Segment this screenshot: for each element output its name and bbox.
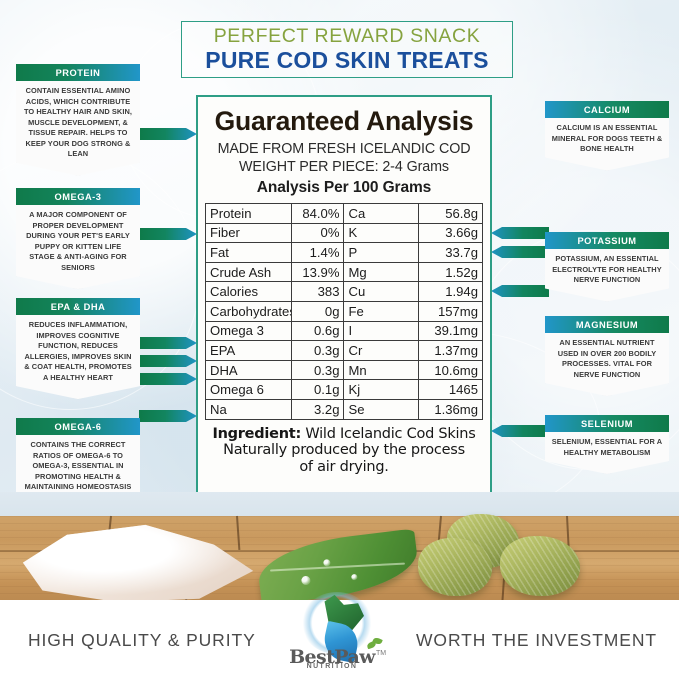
table-row: Crude Ash13.9%Mg1.52g	[206, 262, 483, 282]
table-row: DHA0.3gMn10.6mg	[206, 360, 483, 380]
nutrient-name: Protein	[206, 204, 292, 224]
table-row: EPA0.3gCr1.37mg	[206, 341, 483, 361]
connector-arrow-protein	[139, 128, 197, 140]
header-title-box: PERFECT REWARD SNACK PURE COD SKIN TREAT…	[181, 21, 513, 78]
logo-subtitle: NUTRITION	[279, 663, 385, 670]
mineral-value: 10.6mg	[419, 360, 483, 380]
table-row: Fat1.4%P33.7g	[206, 243, 483, 263]
callout-omega-3[interactable]: OMEGA-3 A MAJOR COMPONENT OF PROPER DEVE…	[16, 188, 140, 289]
panel-subtitle-weight: WEIGHT PER PIECE: 2-4 Grams	[205, 158, 483, 176]
callout-body: AN ESSENTIAL NUTRIENT USED IN OVER 200 B…	[545, 333, 669, 396]
callout-potassium[interactable]: POTASSIUM POTASSIUM, AN ESSENTIAL ELECTR…	[545, 232, 669, 302]
table-row: Calories383Cu1.94g	[206, 282, 483, 302]
nutrient-name: DHA	[206, 360, 292, 380]
footer-tagline-left: HIGH QUALITY & PURITY	[28, 630, 256, 651]
mineral-name: Mn	[344, 360, 419, 380]
table-row: Na3.2gSe1.36mg	[206, 399, 483, 419]
callout-title: OMEGA-6	[16, 418, 140, 435]
guaranteed-analysis-panel: Guaranteed Analysis MADE FROM FRESH ICEL…	[196, 95, 492, 495]
nutrient-name: Omega 3	[206, 321, 292, 341]
panel-subtitle-basis: Analysis Per 100 Grams	[205, 178, 483, 197]
connector-arrow-epa-dha	[139, 337, 197, 349]
table-row: Carbohydrates0gFe157mg	[206, 302, 483, 322]
nutrient-value: 383	[291, 282, 344, 302]
table-row: Omega 30.6gI39.1mg	[206, 321, 483, 341]
callout-body: A MAJOR COMPONENT OF PROPER DEVELOPMENT …	[16, 205, 140, 289]
callout-body: REDUCES INFLAMMATION, IMPROVES COGNITIVE…	[16, 315, 140, 399]
infographic-canvas: PERFECT REWARD SNACK PURE COD SKIN TREAT…	[0, 0, 679, 674]
mineral-value: 56.8g	[419, 204, 483, 224]
callout-calcium[interactable]: CALCIUM CALCIUM IS AN ESSENTIAL MINERAL …	[545, 101, 669, 171]
header-tagline: PERFECT REWARD SNACK	[214, 27, 481, 50]
connector-arrow-calcium	[491, 227, 549, 239]
callout-body: SELENIUM, ESSENTIAL FOR A HEALTHY METABO…	[545, 432, 669, 474]
callout-body: CONTAIN ESSENTIAL AMINO ACIDS, WHICH CON…	[16, 81, 140, 176]
connector-arrow-omega3	[139, 228, 197, 240]
nutrient-name: Omega 6	[206, 380, 292, 400]
callout-title: EPA & DHA	[16, 298, 140, 315]
product-photo-band	[0, 492, 679, 602]
nutrient-value: 13.9%	[291, 262, 344, 282]
callout-body: POTASSIUM, AN ESSENTIAL ELECTROLYTE FOR …	[545, 249, 669, 302]
bestpaw-nutrition-logo: BestPaw TM NUTRITION	[279, 592, 397, 674]
panel-subtitle-origin: MADE FROM FRESH ICELANDIC COD	[205, 140, 483, 158]
callout-protein[interactable]: PROTEIN CONTAIN ESSENTIAL AMINO ACIDS, W…	[16, 64, 140, 176]
callout-body: CALCIUM IS AN ESSENTIAL MINERAL FOR DOGS…	[545, 118, 669, 171]
nutrient-name: Crude Ash	[206, 262, 292, 282]
connector-arrow-omega6	[139, 410, 197, 422]
dried-treat-photo	[418, 538, 492, 596]
mineral-name: Mg	[344, 262, 419, 282]
analysis-table: Protein84.0%Ca56.8gFiber0%K3.66gFat1.4%P…	[205, 203, 483, 420]
nutrient-name: Calories	[206, 282, 292, 302]
connector-arrow-selenium	[491, 425, 549, 437]
callout-title: PROTEIN	[16, 64, 140, 81]
mineral-value: 33.7g	[419, 243, 483, 263]
mineral-value: 3.66g	[419, 223, 483, 243]
nutrient-value: 0g	[291, 302, 344, 322]
mineral-name: P	[344, 243, 419, 263]
mineral-name: K	[344, 223, 419, 243]
nutrient-value: 0.3g	[291, 360, 344, 380]
callout-title: CALCIUM	[545, 101, 669, 118]
callout-title: OMEGA-3	[16, 188, 140, 205]
nutrient-name: EPA	[206, 341, 292, 361]
leaf-vein	[270, 563, 405, 572]
ingredient-value: Wild Icelandic Cod Skins	[305, 426, 475, 442]
nutrient-name: Fat	[206, 243, 292, 263]
table-row: Omega 60.1gKj1465	[206, 380, 483, 400]
callout-title: POTASSIUM	[545, 232, 669, 249]
connector-arrow-dha	[139, 373, 197, 385]
nutrient-value: 3.2g	[291, 399, 344, 419]
mineral-name: Se	[344, 399, 419, 419]
footer-tagline-right: WORTH THE INVESTMENT	[416, 630, 657, 651]
ingredient-label: Ingredient:	[212, 426, 301, 442]
connector-arrow-potassium	[491, 246, 549, 258]
nutrient-value: 0.1g	[291, 380, 344, 400]
nutrient-value: 84.0%	[291, 204, 344, 224]
nutrient-name: Carbohydrates	[206, 302, 292, 322]
dried-treat-photo	[500, 536, 580, 596]
photo-band-backdrop	[0, 492, 679, 518]
callout-title: MAGNESIUM	[545, 316, 669, 333]
mineral-name: Fe	[344, 302, 419, 322]
mineral-value: 39.1mg	[419, 321, 483, 341]
water-droplet	[301, 575, 311, 585]
mineral-value: 1.94g	[419, 282, 483, 302]
mineral-name: Ca	[344, 204, 419, 224]
callout-title: SELENIUM	[545, 415, 669, 432]
mineral-value: 1.37mg	[419, 341, 483, 361]
ingredient-block: Ingredient: Wild Icelandic Cod Skins Nat…	[205, 426, 483, 476]
connector-arrow-epa	[139, 355, 197, 367]
trademark-icon: TM	[376, 650, 386, 657]
mineral-value: 1.52g	[419, 262, 483, 282]
cod-fillet-highlight	[60, 530, 180, 564]
callout-selenium[interactable]: SELENIUM SELENIUM, ESSENTIAL FOR A HEALT…	[545, 415, 669, 474]
ingredient-line-3: of air drying.	[205, 459, 483, 476]
table-row: Protein84.0%Ca56.8g	[206, 204, 483, 224]
callout-epa-dha[interactable]: EPA & DHA REDUCES INFLAMMATION, IMPROVES…	[16, 298, 140, 399]
mineral-name: Cr	[344, 341, 419, 361]
mineral-name: I	[344, 321, 419, 341]
nutrient-value: 0.3g	[291, 341, 344, 361]
header-product-name: PURE COD SKIN TREATS	[205, 49, 488, 72]
mineral-value: 1.36mg	[419, 399, 483, 419]
nutrient-value: 0.6g	[291, 321, 344, 341]
panel-title: Guaranteed Analysis	[205, 107, 483, 135]
mineral-value: 1465	[419, 380, 483, 400]
connector-arrow-magnesium	[491, 285, 549, 297]
nutrient-value: 0%	[291, 223, 344, 243]
mineral-value: 157mg	[419, 302, 483, 322]
table-row: Fiber0%K3.66g	[206, 223, 483, 243]
nutrient-value: 1.4%	[291, 243, 344, 263]
mineral-name: Kj	[344, 380, 419, 400]
callout-magnesium[interactable]: MAGNESIUM AN ESSENTIAL NUTRIENT USED IN …	[545, 316, 669, 396]
mineral-name: Cu	[344, 282, 419, 302]
ingredient-line-2: Naturally produced by the process	[205, 442, 483, 459]
nutrient-name: Na	[206, 399, 292, 419]
nutrient-name: Fiber	[206, 223, 292, 243]
water-droplet	[351, 574, 358, 581]
